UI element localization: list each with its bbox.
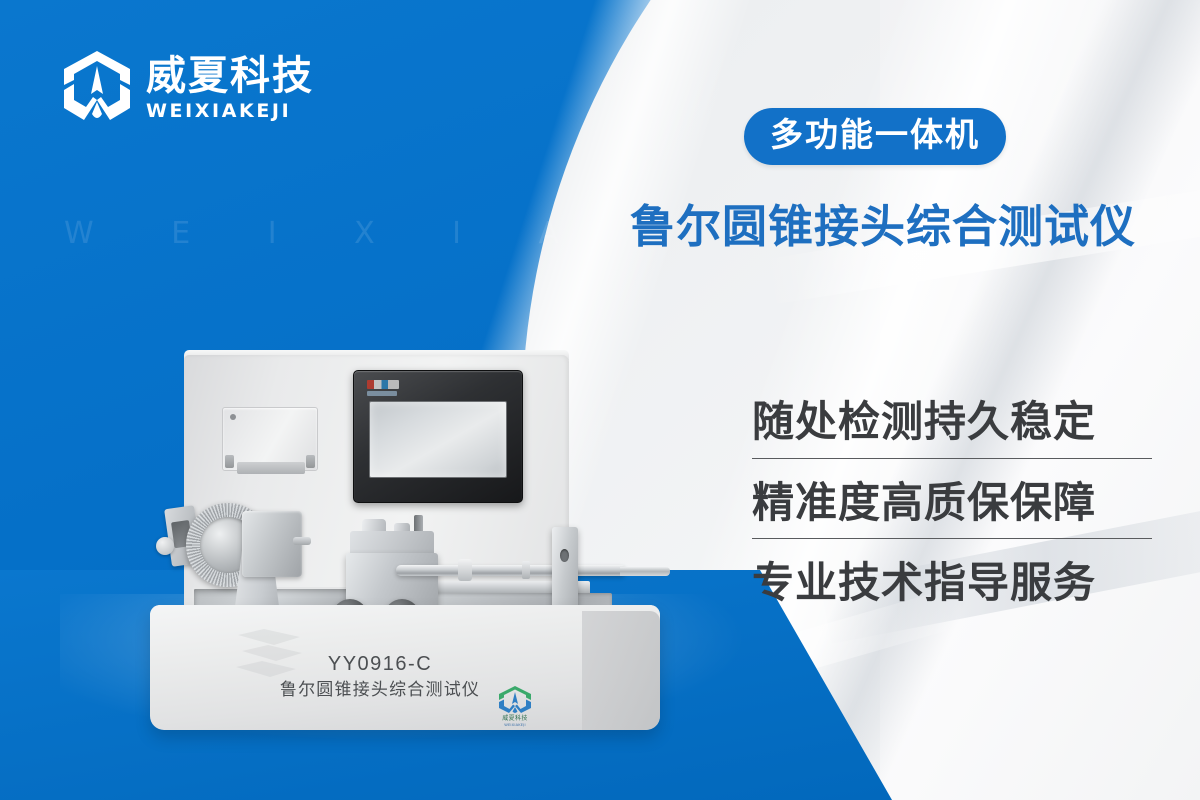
badge-label: 多功能一体机 bbox=[770, 115, 980, 154]
base-brand-badge: 威夏科技 WEIXIAKEJI bbox=[492, 685, 538, 729]
door-clip bbox=[225, 455, 234, 468]
bracket-eye-hole bbox=[560, 549, 569, 562]
touchscreen-panel-icon bbox=[353, 370, 523, 503]
console-access-door bbox=[222, 407, 318, 471]
brand-logo: 威夏科技 WEIXIAKEJI bbox=[62, 50, 314, 128]
feature-text: 专业技术指导服务 bbox=[752, 559, 1152, 608]
badge-brand-en: WEIXIAKEJI bbox=[492, 723, 538, 728]
product-name-label: 鲁尔圆锥接头综合测试仪 bbox=[150, 678, 610, 704]
badge-multifunction: 多功能一体机 bbox=[744, 108, 1006, 165]
hmi-brand-text bbox=[367, 391, 397, 396]
rotary-drive-hub bbox=[242, 511, 302, 577]
brand-name-cn: 威夏科技 bbox=[146, 55, 314, 97]
brand-wordmark: 威夏科技 WEIXIAKEJI bbox=[146, 55, 314, 123]
list-item: 专业技术指导服务 bbox=[752, 559, 1152, 619]
door-latch bbox=[237, 462, 305, 474]
door-screw-hole bbox=[230, 414, 236, 420]
product-model-number: YY0916-C bbox=[150, 651, 610, 678]
rod-collar bbox=[458, 559, 472, 581]
hmi-display-screen bbox=[369, 401, 507, 478]
badge-brand-cn: 威夏科技 bbox=[492, 715, 538, 723]
product-nameplate: YY0916-C 鲁尔圆锥接头综合测试仪 bbox=[150, 651, 610, 704]
weixia-hexagon-arrow-logo-icon bbox=[62, 50, 132, 128]
rotary-side-knob bbox=[156, 537, 174, 555]
brand-name-en: WEIXIAKEJI bbox=[146, 100, 314, 123]
hmi-brand-stripe bbox=[367, 380, 399, 389]
door-clip bbox=[306, 455, 315, 468]
list-item: 精准度高质保保障 bbox=[752, 479, 1152, 540]
push-rod-tip bbox=[620, 567, 670, 576]
product-banner: 威夏科技 WEIXIAKEJI W E I X I A K E J I 多功能一… bbox=[0, 0, 1200, 800]
list-item: 随处检测持久稳定 bbox=[752, 398, 1152, 459]
push-rod bbox=[396, 565, 626, 576]
feature-text: 精准度高质保保障 bbox=[752, 479, 1152, 528]
product-image-luer-taper-tester: YY0916-C 鲁尔圆锥接头综合测试仪 威夏科技 WEIXIAKEJI bbox=[150, 355, 660, 755]
rod-collar bbox=[522, 561, 530, 579]
page-title: 鲁尔圆锥接头综合测试仪 bbox=[630, 200, 1136, 254]
feature-list: 随处检测持久稳定 精准度高质保保障 专业技术指导服务 bbox=[752, 398, 1152, 619]
weixia-badge-logo-icon bbox=[498, 685, 532, 715]
feature-text: 随处检测持久稳定 bbox=[752, 398, 1152, 447]
